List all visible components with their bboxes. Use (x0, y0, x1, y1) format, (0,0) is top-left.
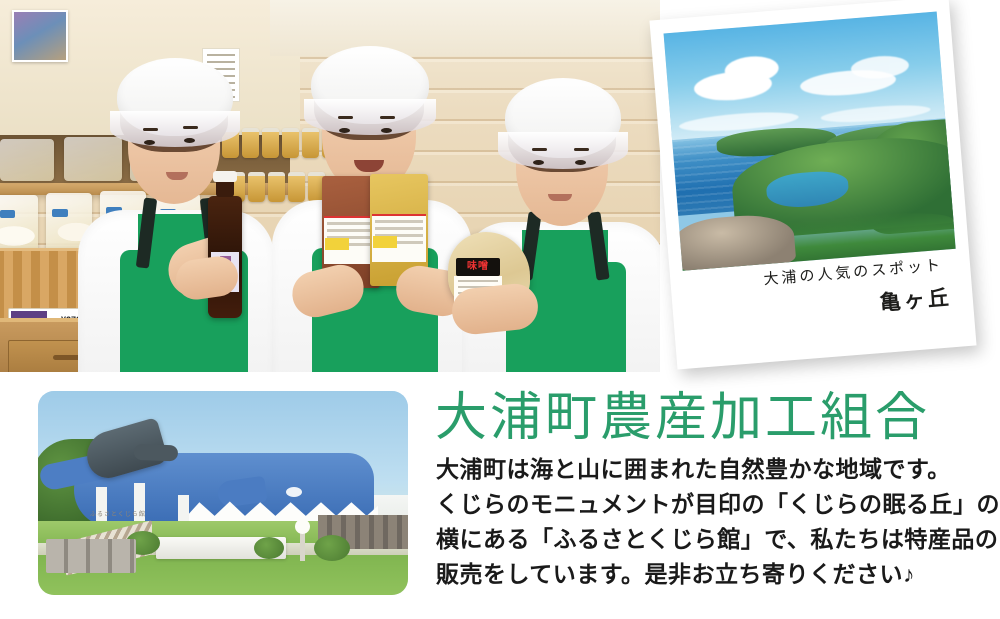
body-line: 横にある「ふるさとくじら館」で、私たちは特産品の (436, 522, 936, 557)
museum-sign: ふるさとくじら館 (90, 509, 146, 518)
page-title: 大浦町農産加工組合 (435, 393, 930, 445)
hair-cap (117, 58, 233, 136)
shelf-product (64, 137, 122, 181)
hair-cap (311, 46, 429, 124)
whale-museum-photo: ふるさとくじら館 (38, 391, 408, 595)
body-line: 販売をしています。是非お立ち寄りください♪ (436, 557, 936, 592)
hair-cap (505, 78, 621, 158)
shop-ceiling (270, 0, 660, 56)
body-copy: 大浦町は海と山に囲まれた自然豊かな地域です。 くじらのモニュメントが目印の「くじ… (436, 452, 936, 592)
body-line: くじらのモニュメントが目印の「くじらの眠る丘」の (436, 487, 936, 522)
stone-blocks (46, 539, 136, 573)
poster-canvas: 切り ¥270 (0, 0, 1000, 619)
shop-photo: 切り ¥270 (0, 0, 660, 372)
wall-poster (12, 10, 68, 62)
polaroid-card: 大浦の人気のスポット 亀ヶ丘 (649, 0, 976, 369)
body-line: 大浦町は海と山に囲まれた自然豊かな地域です。 (436, 452, 936, 487)
shelf-product (0, 139, 54, 181)
whale-eye (286, 487, 302, 497)
polaroid-photo (664, 12, 956, 271)
bush (314, 535, 350, 561)
lamp-post (300, 531, 305, 561)
foreground-rocks (673, 212, 797, 271)
bush (254, 537, 284, 559)
